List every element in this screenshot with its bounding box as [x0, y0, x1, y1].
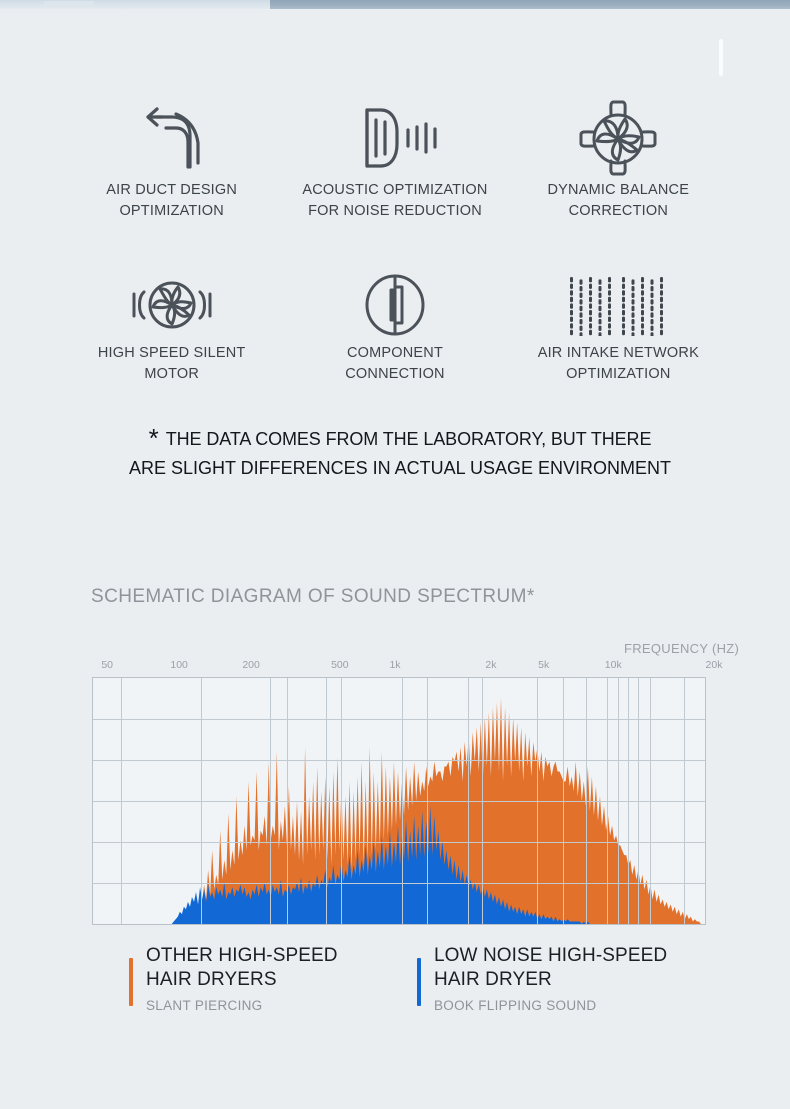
- feature-row-2: HIGH SPEED SILENT MOTOR COMPONENT CONNEC…: [60, 267, 730, 385]
- chart-legend: OTHER HIGH-SPEED HAIR DRYERS SLANT PIERC…: [129, 944, 739, 1015]
- feature-high-speed-silent-motor: HIGH SPEED SILENT MOTOR: [60, 267, 283, 385]
- x-tick-500: 500: [331, 659, 349, 671]
- feature-air-duct-design: AIR DUCT DESIGN OPTIMIZATION: [60, 96, 283, 222]
- y-gridline: [93, 842, 705, 843]
- feature-label: HIGH SPEED SILENT MOTOR: [98, 343, 246, 385]
- legend-title-line2: HAIR DRYER: [434, 968, 667, 992]
- disclaimer-text-line2: ARE SLIGHT DIFFERENCES IN ACTUAL USAGE E…: [50, 454, 750, 482]
- feature-grid: AIR DUCT DESIGN OPTIMIZATION ACOUSTIC OP…: [60, 96, 730, 385]
- feature-dynamic-balance: DYNAMIC BALANCE CORRECTION: [507, 96, 730, 222]
- feature-label-line1: COMPONENT: [345, 343, 444, 364]
- x-axis-tick-row: 501002005001k2k5k10k20k: [92, 659, 706, 675]
- spectrum-plot-area: [92, 677, 706, 925]
- disclaimer: *THE DATA COMES FROM THE LABORATORY, BUT…: [50, 425, 750, 482]
- feature-component-connection: COMPONENT CONNECTION: [283, 267, 506, 385]
- x-tick-200: 200: [242, 659, 260, 671]
- x-tick-5k: 5k: [538, 659, 549, 671]
- feature-row-1: AIR DUCT DESIGN OPTIMIZATION ACOUSTIC OP…: [60, 96, 730, 222]
- banner-right-segment: [270, 0, 790, 9]
- silent-motor-icon: [124, 267, 220, 343]
- legend-item-low-noise-hair-dryer: LOW NOISE HIGH-SPEED HAIR DRYER BOOK FLI…: [417, 944, 667, 1015]
- feature-label: ACOUSTIC OPTIMIZATION FOR NOISE REDUCTIO…: [302, 180, 487, 222]
- y-gridline: [93, 719, 705, 720]
- x-tick-1k: 1k: [389, 659, 400, 671]
- legend-subtitle: BOOK FLIPPING SOUND: [434, 996, 667, 1015]
- y-gridline: [93, 760, 705, 761]
- acoustic-wave-icon: [347, 96, 443, 180]
- x-axis-label: FREQUENCY (HZ): [624, 641, 739, 656]
- component-connection-icon: [359, 267, 431, 343]
- feature-label-line1: AIR INTAKE NETWORK: [538, 343, 699, 364]
- legend-title-line2: HAIR DRYERS: [146, 968, 338, 992]
- legend-item-other-hair-dryers: OTHER HIGH-SPEED HAIR DRYERS SLANT PIERC…: [129, 944, 417, 1015]
- feature-label: AIR INTAKE NETWORK OPTIMIZATION: [538, 343, 699, 385]
- x-tick-20k: 20k: [706, 659, 723, 671]
- legend-text: LOW NOISE HIGH-SPEED HAIR DRYER BOOK FLI…: [434, 944, 667, 1015]
- y-gridline: [93, 801, 705, 802]
- banner-highlight: [44, 1, 94, 6]
- feature-label-line1: AIR DUCT DESIGN: [106, 180, 237, 201]
- feature-label-line2: CORRECTION: [548, 201, 690, 222]
- disclaimer-text-line1: THE DATA COMES FROM THE LABORATORY, BUT …: [166, 429, 652, 449]
- x-tick-50: 50: [101, 659, 113, 671]
- feature-air-intake-network: AIR INTAKE NETWORK OPTIMIZATION: [507, 267, 730, 385]
- disclaimer-line-1: *THE DATA COMES FROM THE LABORATORY, BUT…: [50, 425, 750, 453]
- feature-label: DYNAMIC BALANCE CORRECTION: [548, 180, 690, 222]
- air-duct-icon: [132, 96, 212, 180]
- legend-subtitle: SLANT PIERCING: [146, 996, 338, 1015]
- dynamic-balance-icon: [577, 96, 659, 180]
- feature-label-line2: MOTOR: [98, 364, 246, 385]
- x-tick-100: 100: [170, 659, 188, 671]
- feature-label: COMPONENT CONNECTION: [345, 343, 444, 385]
- feature-label-line2: FOR NOISE REDUCTION: [302, 201, 487, 222]
- legend-text: OTHER HIGH-SPEED HAIR DRYERS SLANT PIERC…: [146, 944, 338, 1015]
- top-banner-strip: [0, 0, 790, 9]
- feature-label-line1: DYNAMIC BALANCE: [548, 180, 690, 201]
- air-intake-mesh-icon: [568, 267, 668, 343]
- feature-label: AIR DUCT DESIGN OPTIMIZATION: [106, 180, 237, 222]
- feature-label-line2: OPTIMIZATION: [106, 201, 237, 222]
- legend-color-bar: [129, 958, 133, 1006]
- feature-label-line1: ACOUSTIC OPTIMIZATION: [302, 180, 487, 201]
- feature-label-line1: HIGH SPEED SILENT: [98, 343, 246, 364]
- x-tick-2k: 2k: [485, 659, 496, 671]
- feature-acoustic-optimization: ACOUSTIC OPTIMIZATION FOR NOISE REDUCTIO…: [283, 96, 506, 222]
- legend-title-line1: LOW NOISE HIGH-SPEED: [434, 944, 667, 968]
- banner-left-segment: [0, 0, 270, 9]
- chart-title: SCHEMATIC DIAGRAM OF SOUND SPECTRUM*: [91, 586, 535, 608]
- legend-color-bar: [417, 958, 421, 1006]
- x-tick-10k: 10k: [605, 659, 622, 671]
- y-gridline: [93, 883, 705, 884]
- feature-label-line2: OPTIMIZATION: [538, 364, 699, 385]
- scrollbar-indicator[interactable]: [719, 39, 723, 76]
- asterisk-marker: *: [149, 423, 159, 453]
- feature-label-line2: CONNECTION: [345, 364, 444, 385]
- legend-title-line1: OTHER HIGH-SPEED: [146, 944, 338, 968]
